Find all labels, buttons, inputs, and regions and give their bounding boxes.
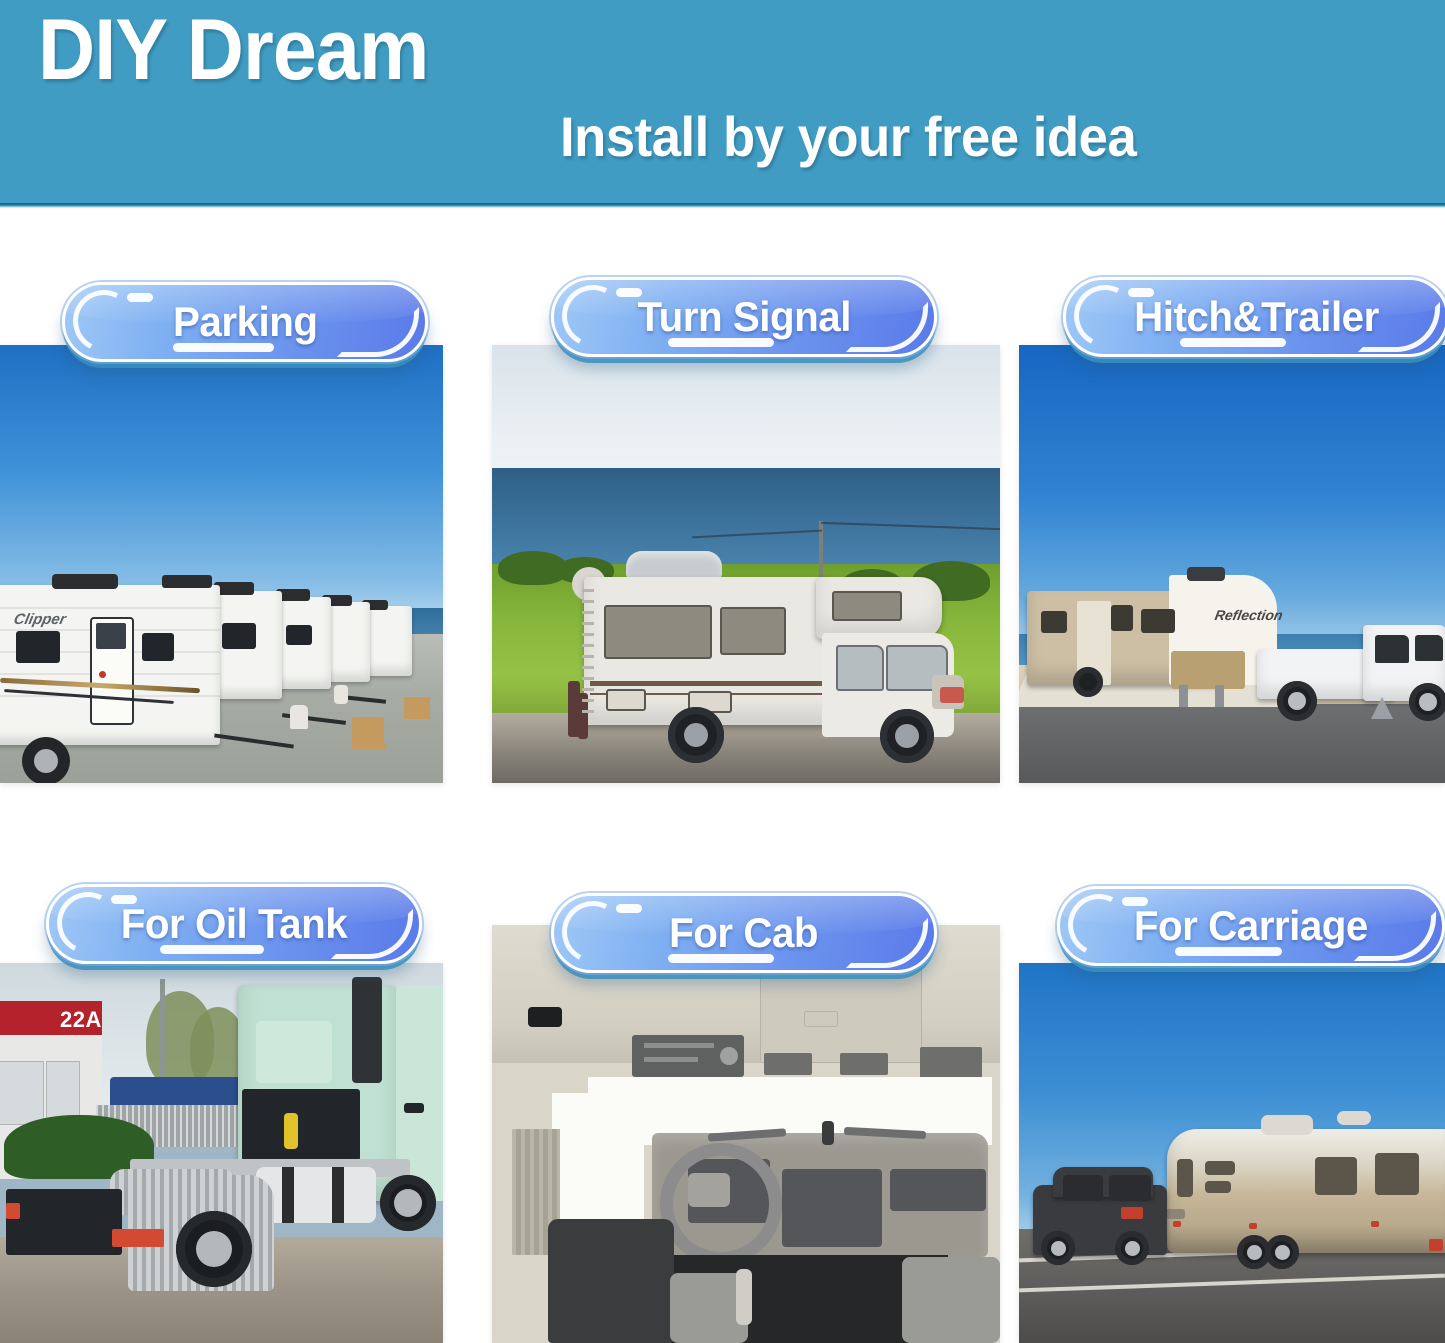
badge-oil-tank[interactable]: For Oil Tank bbox=[46, 884, 422, 964]
exhaust-stack bbox=[352, 977, 382, 1083]
cab-chassis-gap bbox=[242, 1089, 360, 1161]
light-pole bbox=[160, 979, 165, 1089]
trailer-tail-light bbox=[1429, 1239, 1443, 1251]
tail-light bbox=[112, 1229, 164, 1247]
badge-label: Hitch&Trailer bbox=[1134, 293, 1379, 341]
badge-gloss-dash-icon bbox=[616, 904, 642, 913]
trailer-door bbox=[90, 617, 134, 725]
trailer-window bbox=[1177, 1159, 1193, 1197]
pickup-cab-window bbox=[1375, 635, 1409, 663]
bay-number-sign: 22A bbox=[60, 1007, 102, 1033]
roof-cargo-box bbox=[626, 551, 722, 579]
scene-motorhome-coast bbox=[492, 345, 1000, 783]
trailer-hubcap bbox=[1247, 1245, 1262, 1260]
photo-carriage bbox=[1019, 963, 1445, 1343]
trailer-window bbox=[1205, 1161, 1235, 1175]
trailer-hubcap bbox=[34, 749, 58, 773]
frame-rail bbox=[6, 1189, 122, 1255]
tank-strap bbox=[282, 1167, 294, 1223]
badge-label: Parking bbox=[173, 298, 318, 346]
landing-jack bbox=[1215, 685, 1224, 707]
page-subtitle: Install by your free idea bbox=[560, 108, 1136, 167]
photo-cab bbox=[492, 925, 1000, 1343]
rooftop-ac-3 bbox=[214, 582, 254, 595]
page-title: DIY Dream bbox=[38, 5, 428, 95]
suv-window bbox=[1063, 1175, 1103, 1201]
pickup-cab-window bbox=[1415, 635, 1443, 661]
camp-chair bbox=[352, 717, 384, 745]
drive-hubcap bbox=[196, 1231, 232, 1267]
center-stack bbox=[782, 1169, 882, 1247]
body-stripe bbox=[590, 681, 834, 686]
scene-trailer-row: Clipper bbox=[0, 345, 443, 783]
front-marker bbox=[940, 687, 964, 703]
header-banner: DIY Dream Install by your free idea bbox=[0, 0, 1445, 203]
photo-turn-signal bbox=[492, 345, 1000, 783]
driver-side-window bbox=[552, 1093, 644, 1229]
hitch-overhang bbox=[1171, 651, 1245, 689]
trailer-window-4 bbox=[286, 625, 312, 645]
steering-wheel-hub bbox=[688, 1173, 730, 1207]
header-divider bbox=[0, 203, 1445, 208]
trailer-brand-decal: Reflection bbox=[1214, 607, 1285, 623]
trailer-window bbox=[1315, 1157, 1357, 1195]
propane-tank bbox=[334, 685, 348, 704]
radio-slot bbox=[644, 1043, 714, 1048]
showroom-glass bbox=[0, 1061, 44, 1125]
badge-label: For Oil Tank bbox=[121, 900, 347, 948]
rooftop-ac-main bbox=[52, 574, 118, 589]
storage-hatch bbox=[606, 689, 646, 711]
trailer-window bbox=[1141, 609, 1175, 633]
trailer-brand-decal: Clipper bbox=[12, 611, 67, 628]
gear-stick bbox=[822, 1121, 834, 1145]
badge-carriage[interactable]: For Carriage bbox=[1057, 886, 1445, 966]
suv-rear-hubcap bbox=[1125, 1241, 1140, 1256]
air-hose bbox=[284, 1113, 298, 1149]
trailer-marker-light bbox=[1249, 1223, 1257, 1229]
trailer-window bbox=[1111, 605, 1133, 631]
landing-jack bbox=[1179, 685, 1188, 707]
front-hubcap bbox=[895, 724, 919, 748]
panel-seam bbox=[0, 607, 220, 609]
suv-front-hubcap bbox=[1051, 1241, 1066, 1256]
rear-hubcap bbox=[684, 723, 708, 747]
badge-parking[interactable]: Parking bbox=[62, 282, 428, 362]
scene-airstream bbox=[1019, 963, 1445, 1343]
badge-hitch-trailer[interactable]: Hitch&Trailer bbox=[1063, 277, 1445, 357]
passenger-dash-panel bbox=[890, 1169, 986, 1211]
roof-vent bbox=[1337, 1111, 1371, 1125]
camp-chair bbox=[404, 697, 430, 719]
interior-mirror bbox=[528, 1007, 562, 1027]
camp-chair bbox=[352, 743, 386, 749]
suv-window bbox=[1109, 1175, 1151, 1201]
photo-parking: Clipper bbox=[0, 345, 443, 783]
driver-seat bbox=[548, 1219, 674, 1343]
scene-fifth-wheel: Reflection bbox=[1019, 345, 1445, 783]
trailer-window-main bbox=[16, 631, 60, 663]
side-window-small bbox=[720, 607, 786, 655]
radio-knob bbox=[720, 1047, 738, 1065]
badge-cab[interactable]: For Cab bbox=[551, 893, 937, 973]
cab-rear-panel bbox=[256, 1021, 332, 1083]
badge-label: For Carriage bbox=[1134, 902, 1368, 950]
pickup-rear-hubcap bbox=[1288, 692, 1306, 710]
badge-gloss-hook-icon bbox=[337, 307, 419, 357]
trailer-window bbox=[1041, 611, 1067, 633]
propane-tank bbox=[290, 705, 308, 729]
photo-oil-tank: 22A bbox=[0, 963, 443, 1343]
badge-gloss-hook-icon bbox=[846, 302, 928, 352]
pickup-front-hubcap bbox=[1419, 693, 1437, 711]
fuel-oil-tank bbox=[256, 1167, 376, 1223]
rooftop-vent-main bbox=[162, 575, 212, 588]
cab-door-handle bbox=[404, 1103, 424, 1113]
overcab-window bbox=[832, 591, 902, 621]
trailer-hubcap bbox=[1275, 1245, 1290, 1260]
side-window-large bbox=[604, 605, 712, 659]
badge-turn-signal[interactable]: Turn Signal bbox=[551, 277, 937, 357]
air-vent bbox=[840, 1053, 888, 1075]
trailer-window-3 bbox=[222, 623, 256, 649]
tail-light bbox=[6, 1203, 20, 1219]
steer-hubcap bbox=[394, 1189, 422, 1217]
suv-tail-light bbox=[1121, 1207, 1143, 1219]
badge-gloss-hook-icon bbox=[846, 918, 928, 968]
trailer-wheel bbox=[1073, 667, 1103, 697]
badge-gloss-dash-icon bbox=[127, 293, 153, 302]
sky bbox=[492, 345, 1000, 472]
radio-slot bbox=[644, 1057, 698, 1062]
badge-label: Turn Signal bbox=[637, 293, 850, 341]
overhead-storage-latch bbox=[804, 1011, 838, 1027]
tank-strap bbox=[332, 1167, 344, 1223]
shift-lever bbox=[736, 1269, 752, 1325]
trailer-window bbox=[1375, 1153, 1419, 1195]
cab-door-window bbox=[836, 645, 884, 691]
badge-label: For Cab bbox=[670, 909, 819, 957]
rooftop-ac bbox=[1261, 1115, 1313, 1135]
ocean bbox=[492, 468, 1000, 569]
rooftop-ac bbox=[1187, 567, 1225, 581]
photo-hitch-trailer: Reflection bbox=[1019, 345, 1445, 783]
scene-cab-interior bbox=[492, 925, 1000, 1343]
trailer-marker-light bbox=[1371, 1221, 1379, 1227]
trailer-marker-light bbox=[1173, 1221, 1181, 1227]
scene-semi-truck: 22A bbox=[0, 963, 443, 1343]
passenger-seat bbox=[902, 1257, 1000, 1343]
trailer-window bbox=[1205, 1181, 1231, 1193]
rear-ladder bbox=[582, 589, 594, 719]
air-vent bbox=[764, 1053, 812, 1075]
trailer-panel-dark bbox=[142, 633, 174, 661]
air-vent bbox=[920, 1047, 982, 1081]
